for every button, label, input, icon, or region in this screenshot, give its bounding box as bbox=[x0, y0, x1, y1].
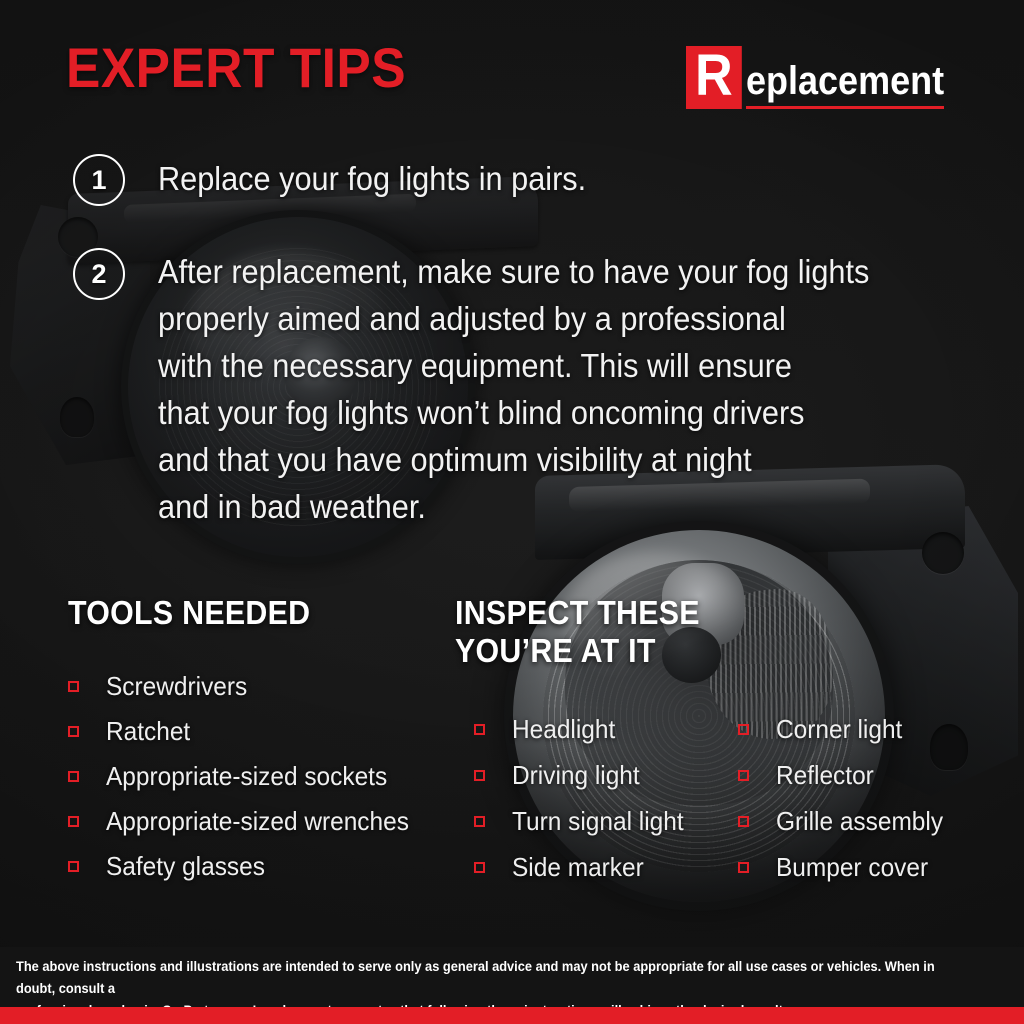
list-item-label: Safety glasses bbox=[106, 851, 265, 882]
tip-text-1: Replace your fog lights in pairs. bbox=[158, 154, 586, 204]
list-item[interactable]: Appropriate-sized sockets bbox=[68, 754, 428, 799]
checkbox-square-icon[interactable] bbox=[68, 771, 79, 782]
list-item-label: Appropriate-sized wrenches bbox=[106, 806, 409, 837]
list-item-label: Turn signal light bbox=[512, 806, 684, 837]
list-item[interactable]: Headlight bbox=[474, 706, 695, 752]
checkbox-square-icon[interactable] bbox=[474, 816, 485, 827]
expert-tips-infographic: EXPERT TIPS R eplacement 1 Replace your … bbox=[0, 0, 1024, 1024]
checkbox-square-icon[interactable] bbox=[738, 862, 749, 873]
checkbox-square-icon[interactable] bbox=[738, 816, 749, 827]
tip-number-badge-2: 2 bbox=[73, 248, 125, 300]
list-item-label: Appropriate-sized sockets bbox=[106, 761, 387, 792]
list-item-label: Corner light bbox=[776, 714, 902, 745]
list-item-label: Reflector bbox=[776, 760, 874, 791]
list-item[interactable]: Side marker bbox=[474, 844, 695, 890]
brand-logo-initial: R bbox=[686, 46, 742, 109]
checkbox-square-icon[interactable] bbox=[68, 726, 79, 737]
brand-logo: R eplacement bbox=[686, 47, 966, 109]
tools-needed-heading: TOOLS NEEDED bbox=[68, 594, 310, 632]
list-item-label: Headlight bbox=[512, 714, 615, 745]
list-item-label: Screwdrivers bbox=[106, 671, 247, 702]
list-item[interactable]: Safety glasses bbox=[68, 844, 428, 889]
checkbox-square-icon[interactable] bbox=[474, 770, 485, 781]
checkbox-square-icon[interactable] bbox=[68, 861, 79, 872]
list-item[interactable]: Corner light bbox=[738, 706, 954, 752]
list-item[interactable]: Turn signal light bbox=[474, 798, 695, 844]
inspect-these-heading: INSPECT THESE YOU’RE AT IT bbox=[455, 594, 700, 670]
list-item-label: Ratchet bbox=[106, 716, 190, 747]
inspect-list-column-1: Headlight Driving light Turn signal ligh… bbox=[474, 706, 695, 890]
list-item[interactable]: Grille assembly bbox=[738, 798, 954, 844]
checkbox-square-icon[interactable] bbox=[68, 816, 79, 827]
tip-number-badge-1: 1 bbox=[73, 154, 125, 206]
list-item[interactable]: Ratchet bbox=[68, 709, 428, 754]
checkbox-square-icon[interactable] bbox=[738, 770, 749, 781]
content-layer: EXPERT TIPS R eplacement 1 Replace your … bbox=[0, 0, 1024, 1024]
tools-needed-list: Screwdrivers Ratchet Appropriate-sized s… bbox=[68, 664, 428, 889]
list-item[interactable]: Appropriate-sized wrenches bbox=[68, 799, 428, 844]
tip-item-1: 1 Replace your fog lights in pairs. bbox=[73, 154, 618, 206]
list-item[interactable]: Screwdrivers bbox=[68, 664, 428, 709]
list-item-label: Driving light bbox=[512, 760, 640, 791]
brand-logo-word: eplacement bbox=[746, 61, 944, 109]
list-item[interactable]: Bumper cover bbox=[738, 844, 954, 890]
checkbox-square-icon[interactable] bbox=[68, 681, 79, 692]
inspect-list-column-2: Corner light Reflector Grille assembly B… bbox=[738, 706, 954, 890]
checkbox-square-icon[interactable] bbox=[738, 724, 749, 735]
list-item[interactable]: Driving light bbox=[474, 752, 695, 798]
list-item[interactable]: Reflector bbox=[738, 752, 954, 798]
tip-item-2: 2 After replacement, make sure to have y… bbox=[73, 248, 923, 530]
checkbox-square-icon[interactable] bbox=[474, 724, 485, 735]
list-item-label: Side marker bbox=[512, 852, 644, 883]
page-title: EXPERT TIPS bbox=[66, 40, 406, 96]
checkbox-square-icon[interactable] bbox=[474, 862, 485, 873]
list-item-label: Grille assembly bbox=[776, 806, 943, 837]
footer-accent-bar bbox=[0, 1007, 1024, 1024]
list-item-label: Bumper cover bbox=[776, 852, 928, 883]
tip-text-2: After replacement, make sure to have you… bbox=[158, 248, 869, 530]
